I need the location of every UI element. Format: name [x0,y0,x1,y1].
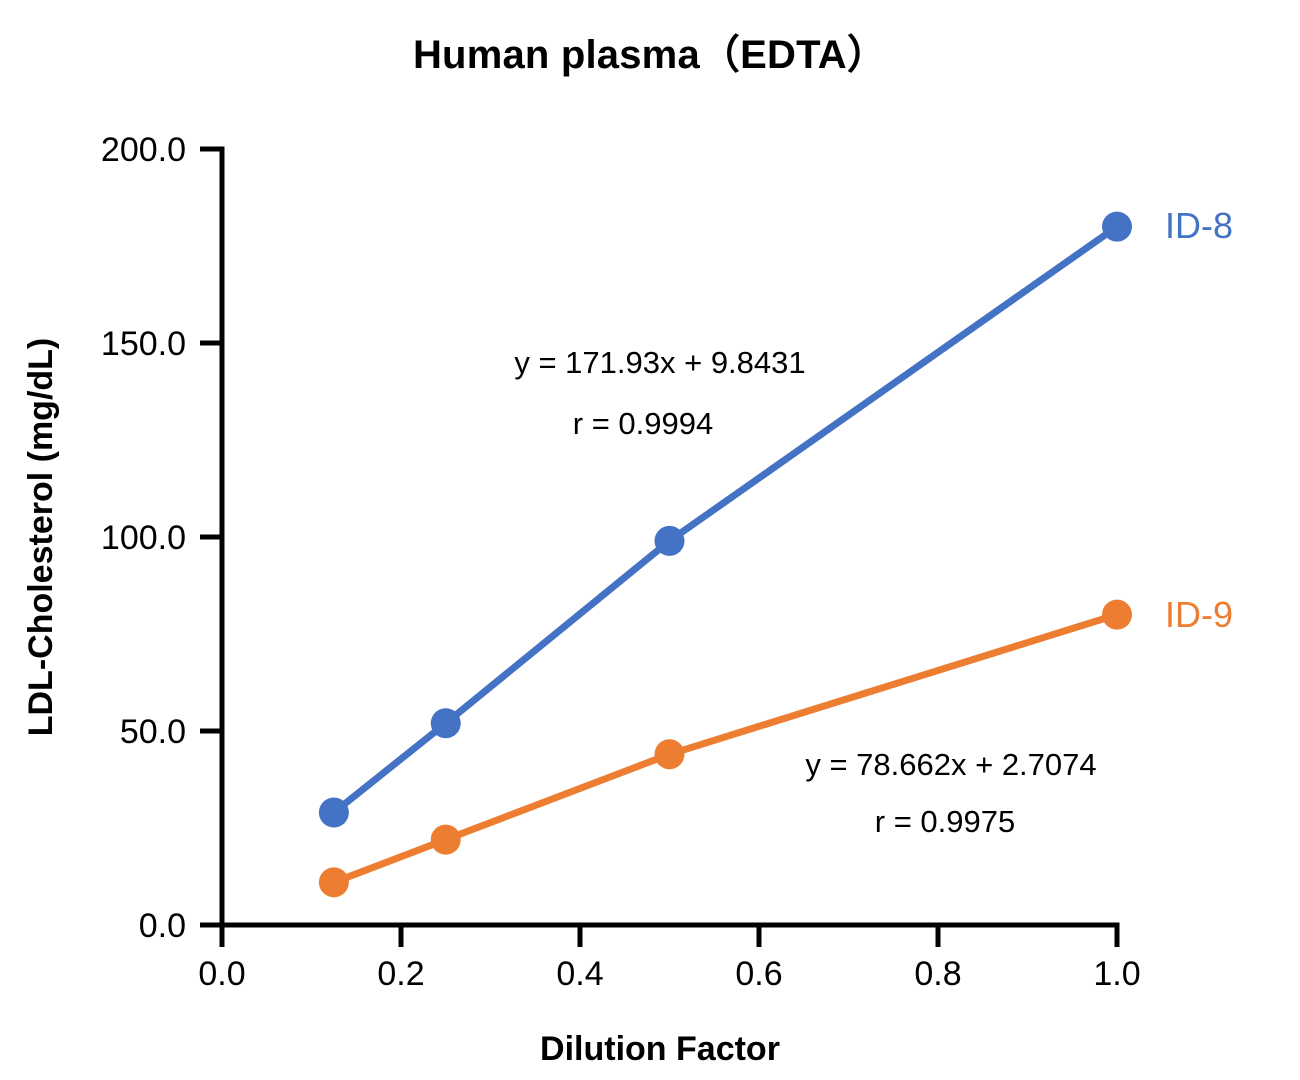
x-axis-tick-labels: 0.0 0.2 0.4 0.6 0.8 1.0 [198,955,1140,993]
y-axis-title: LDL-Cholesterol (mg/dL) [22,338,60,737]
annotation-equation-id9: y = 78.662x + 2.7074 [805,747,1096,782]
y-tick-label: 50.0 [120,713,186,751]
series-labels-layer: ID-8 ID-9 [1165,205,1233,635]
x-tick-label: 0.4 [556,955,603,993]
y-tick-label: 100.0 [101,519,186,557]
series-label-id8: ID-8 [1165,205,1233,246]
y-axis-ticks [200,149,222,925]
x-axis-title: Dilution Factor [540,1030,780,1068]
data-point-id-8[interactable] [319,797,349,827]
x-tick-label: 1.0 [1093,955,1140,993]
data-point-id-8[interactable] [431,708,461,738]
y-axis-tick-labels: 200.0 150.0 100.0 50.0 0.0 [101,131,186,945]
data-point-id-9[interactable] [655,739,685,769]
x-tick-label: 0.0 [198,955,245,993]
data-point-id-9[interactable] [431,825,461,855]
chart-container: Human plasma（EDTA） 200.0 150.0 100.0 [0,0,1300,1080]
y-tick-label: 0.0 [139,907,186,945]
y-tick-label: 150.0 [101,325,186,363]
annotation-equation-id8: y = 171.93x + 9.8431 [514,345,805,380]
data-point-id-9[interactable] [1102,600,1132,630]
annotation-correlation-id9: r = 0.9975 [875,804,1015,839]
data-point-id-9[interactable] [319,867,349,897]
x-axis-ticks [222,925,1117,947]
series-label-id9: ID-9 [1165,594,1233,635]
annotation-correlation-id8: r = 0.9994 [573,406,713,441]
series-layer [319,212,1132,898]
x-tick-label: 0.6 [735,955,782,993]
data-point-id-8[interactable] [1102,212,1132,242]
plot-area: 200.0 150.0 100.0 50.0 0.0 0.0 0.2 0.4 0… [0,0,1300,1080]
x-tick-label: 0.2 [377,955,424,993]
x-tick-label: 0.8 [914,955,961,993]
y-tick-label: 200.0 [101,131,186,169]
data-point-id-8[interactable] [655,526,685,556]
